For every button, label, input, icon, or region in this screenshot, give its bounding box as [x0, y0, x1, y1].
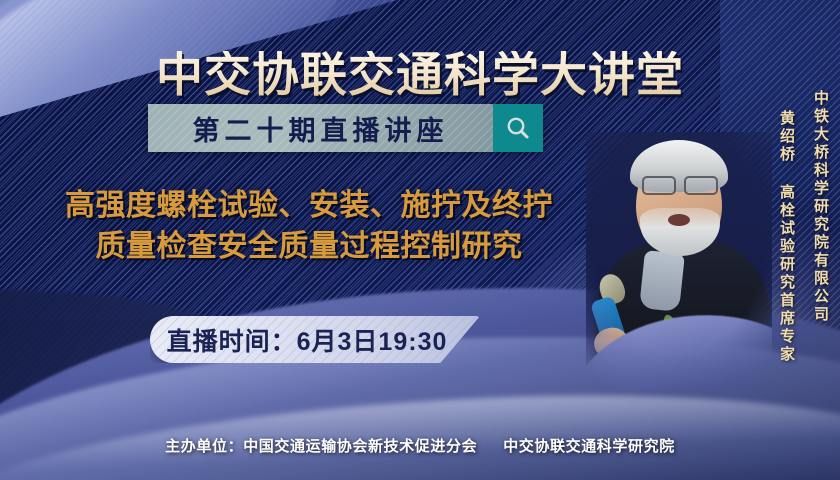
- episode-field[interactable]: 第二十期直播讲座: [148, 104, 493, 152]
- speaker-photo: [586, 132, 772, 390]
- footer-prefix: 主办单位：: [165, 438, 243, 455]
- search-icon: [505, 115, 531, 141]
- live-time-badge: 直播时间：6月3日19:30: [150, 316, 480, 363]
- footer-host-2: 中交协联交通科学研究院: [503, 438, 675, 455]
- speaker-shirt: [639, 250, 685, 312]
- search-button[interactable]: [493, 104, 543, 152]
- speaker-mouth: [668, 214, 690, 226]
- footer-hosts: 主办单位：中国交通运输协会新技术促进分会中交协联交通科学研究院: [0, 435, 840, 456]
- lecture-subtitle: 高强度螺栓试验、安装、施拧及终拧 质量检查安全质量过程控制研究: [12, 186, 606, 267]
- speaker-name-title: 黄绍桥 高栓试验研究首席专家: [779, 110, 794, 364]
- subtitle-line-1: 高强度螺栓试验、安装、施拧及终拧: [65, 189, 553, 222]
- page-title: 中交协联交通科学大讲堂: [0, 51, 840, 98]
- speaker-organization: 中铁大桥科学研究院有限公司: [813, 90, 828, 324]
- episode-search-bar[interactable]: 第二十期直播讲座: [148, 104, 543, 152]
- live-time-text: 直播时间：6月3日19:30: [167, 322, 448, 358]
- episode-label: 第二十期直播讲座: [193, 109, 449, 148]
- live-lecture-poster: 中交协联交通科学大讲堂 第二十期直播讲座 高强度螺栓试验、安装、施拧及终拧 质量…: [0, 0, 840, 480]
- background-ribbon-bottom-sheen: [0, 378, 840, 480]
- footer-host-1: 中国交通运输协会新技术促进分会: [243, 438, 477, 455]
- subtitle-line-2: 质量检查安全质量过程控制研究: [12, 227, 606, 268]
- speaker-glasses: [642, 176, 718, 192]
